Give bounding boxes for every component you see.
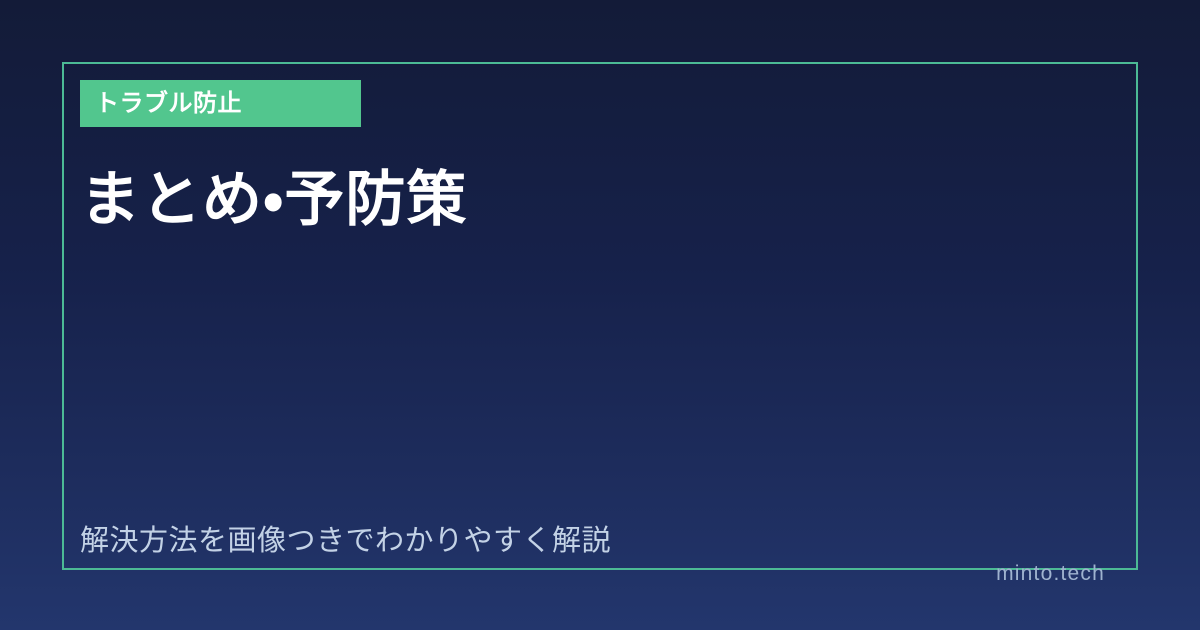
slide-content: トラブル防止 まとめ・予防策 — [80, 80, 1120, 552]
category-badge: トラブル防止 — [80, 80, 361, 127]
site-watermark: minto.tech — [996, 561, 1105, 586]
slide-canvas: トラブル防止 まとめ・予防策 解決方法を画像つきでわかりやすく解説 minto.… — [0, 0, 1200, 630]
category-badge-label: トラブル防止 — [95, 92, 242, 116]
slide-subtitle: 解決方法を画像つきでわかりやすく解説 — [80, 524, 611, 559]
page-title: まとめ・予防策 — [80, 165, 1120, 234]
